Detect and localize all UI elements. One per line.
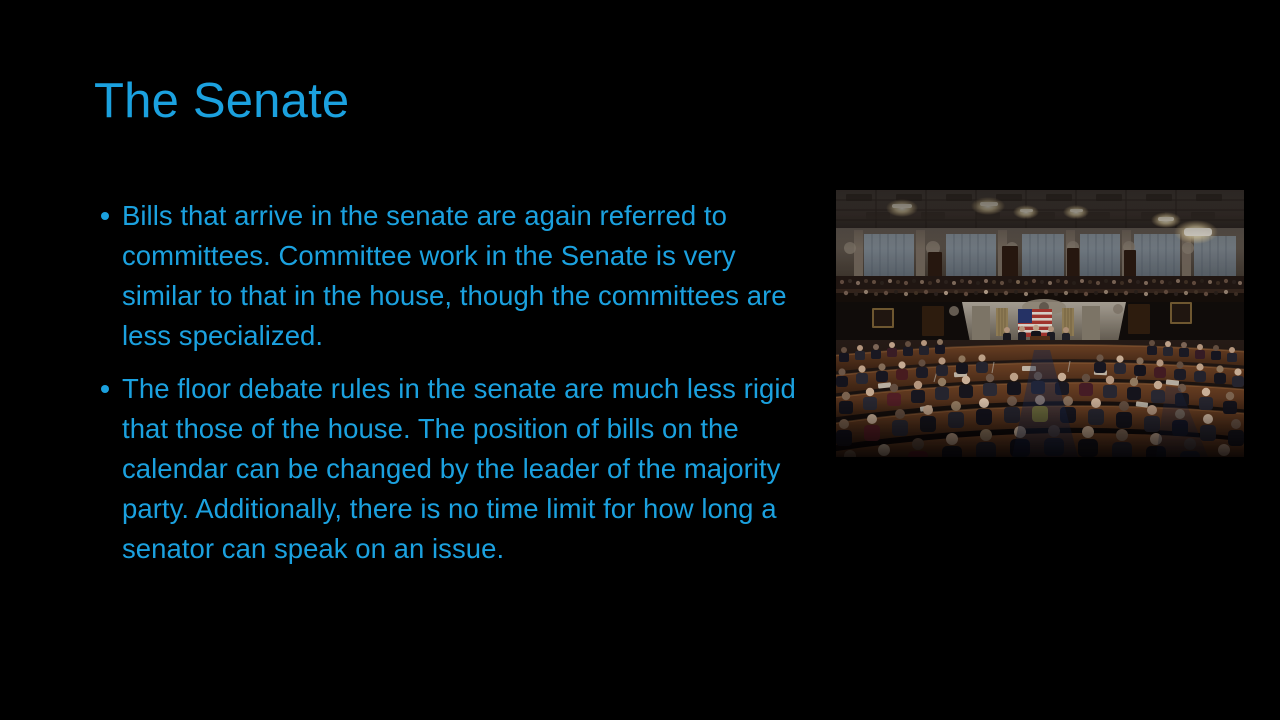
chamber-illustration	[836, 190, 1244, 457]
bullet-dot-icon	[101, 212, 109, 220]
list-item-text: The floor debate rules in the senate are…	[122, 373, 796, 564]
bullet-dot-icon	[101, 385, 109, 393]
presentation-slide: The Senate Bills that arrive in the sena…	[0, 0, 1280, 720]
bullet-list: Bills that arrive in the senate are agai…	[96, 196, 820, 569]
page-title: The Senate	[94, 72, 854, 130]
congress-chamber-photo	[836, 190, 1244, 457]
list-item: Bills that arrive in the senate are agai…	[96, 196, 820, 356]
list-item-text: Bills that arrive in the senate are agai…	[122, 200, 787, 351]
list-item: The floor debate rules in the senate are…	[96, 369, 820, 569]
